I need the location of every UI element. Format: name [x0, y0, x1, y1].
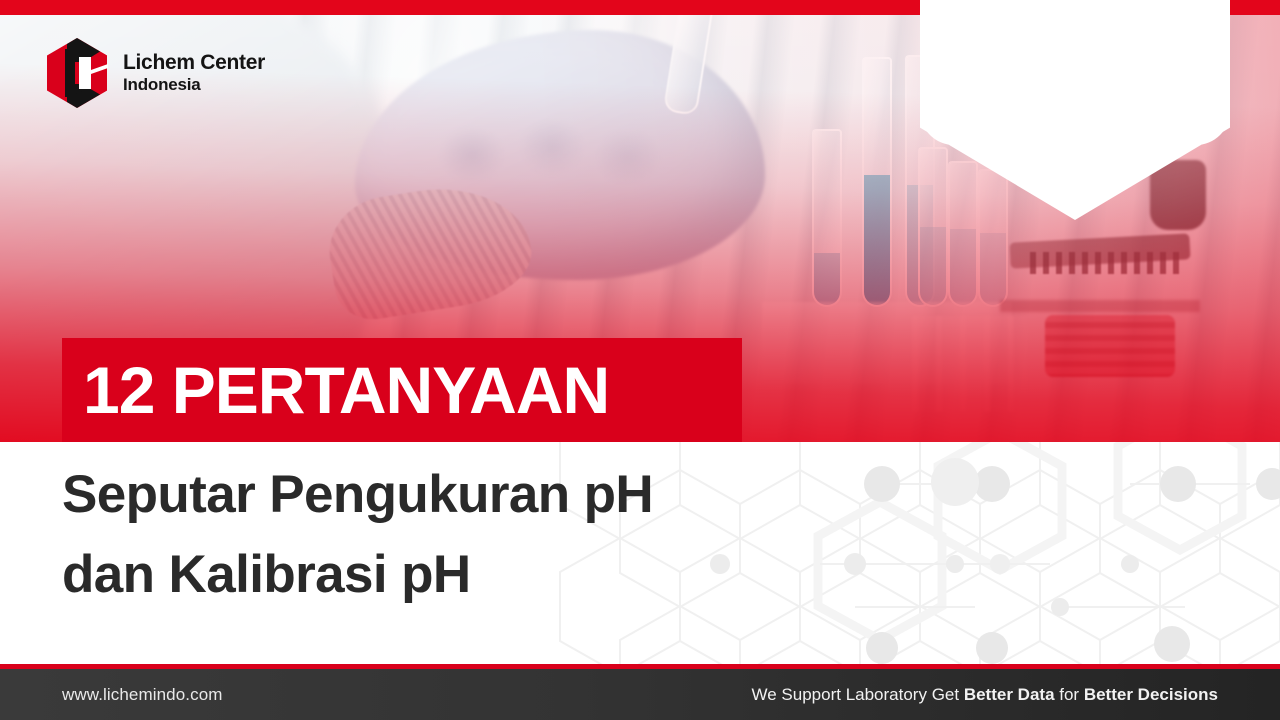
- lichem-logo-icon: [45, 37, 109, 109]
- subtitle-line-1: Seputar Pengukuran pH: [62, 455, 862, 535]
- logo-lockup: Lichem Center Indonesia: [0, 0, 310, 145]
- footer-bar: www.lichemindo.com We Support Laboratory…: [0, 669, 1280, 720]
- footer-website-link[interactable]: www.lichemindo.com: [62, 685, 223, 705]
- tagline-bold-better-data: Better Data: [964, 685, 1055, 704]
- logo-badge-top: [920, 0, 1230, 145]
- headline-subtitle: Seputar Pengukuran pH dan Kalibrasi pH: [62, 455, 862, 614]
- logo-line-2: Indonesia: [123, 75, 265, 94]
- headline-highlight-box: 12 PERTANYAAN: [62, 338, 742, 442]
- logo-line-1: Lichem Center: [123, 51, 265, 75]
- promo-banner: Lichem Center Indonesia 12 PERTANYAAN Se…: [0, 0, 1280, 720]
- logo-text: Lichem Center Indonesia: [123, 51, 265, 94]
- footer-tagline: We Support Laboratory Get Better Data fo…: [752, 685, 1218, 705]
- tagline-prefix: We Support Laboratory Get: [752, 685, 964, 704]
- tagline-bold-better-decisions: Better Decisions: [1084, 685, 1218, 704]
- subtitle-line-2: dan Kalibrasi pH: [62, 535, 862, 615]
- tagline-middle: for: [1055, 685, 1084, 704]
- headline-count: 12 PERTANYAAN: [62, 357, 609, 423]
